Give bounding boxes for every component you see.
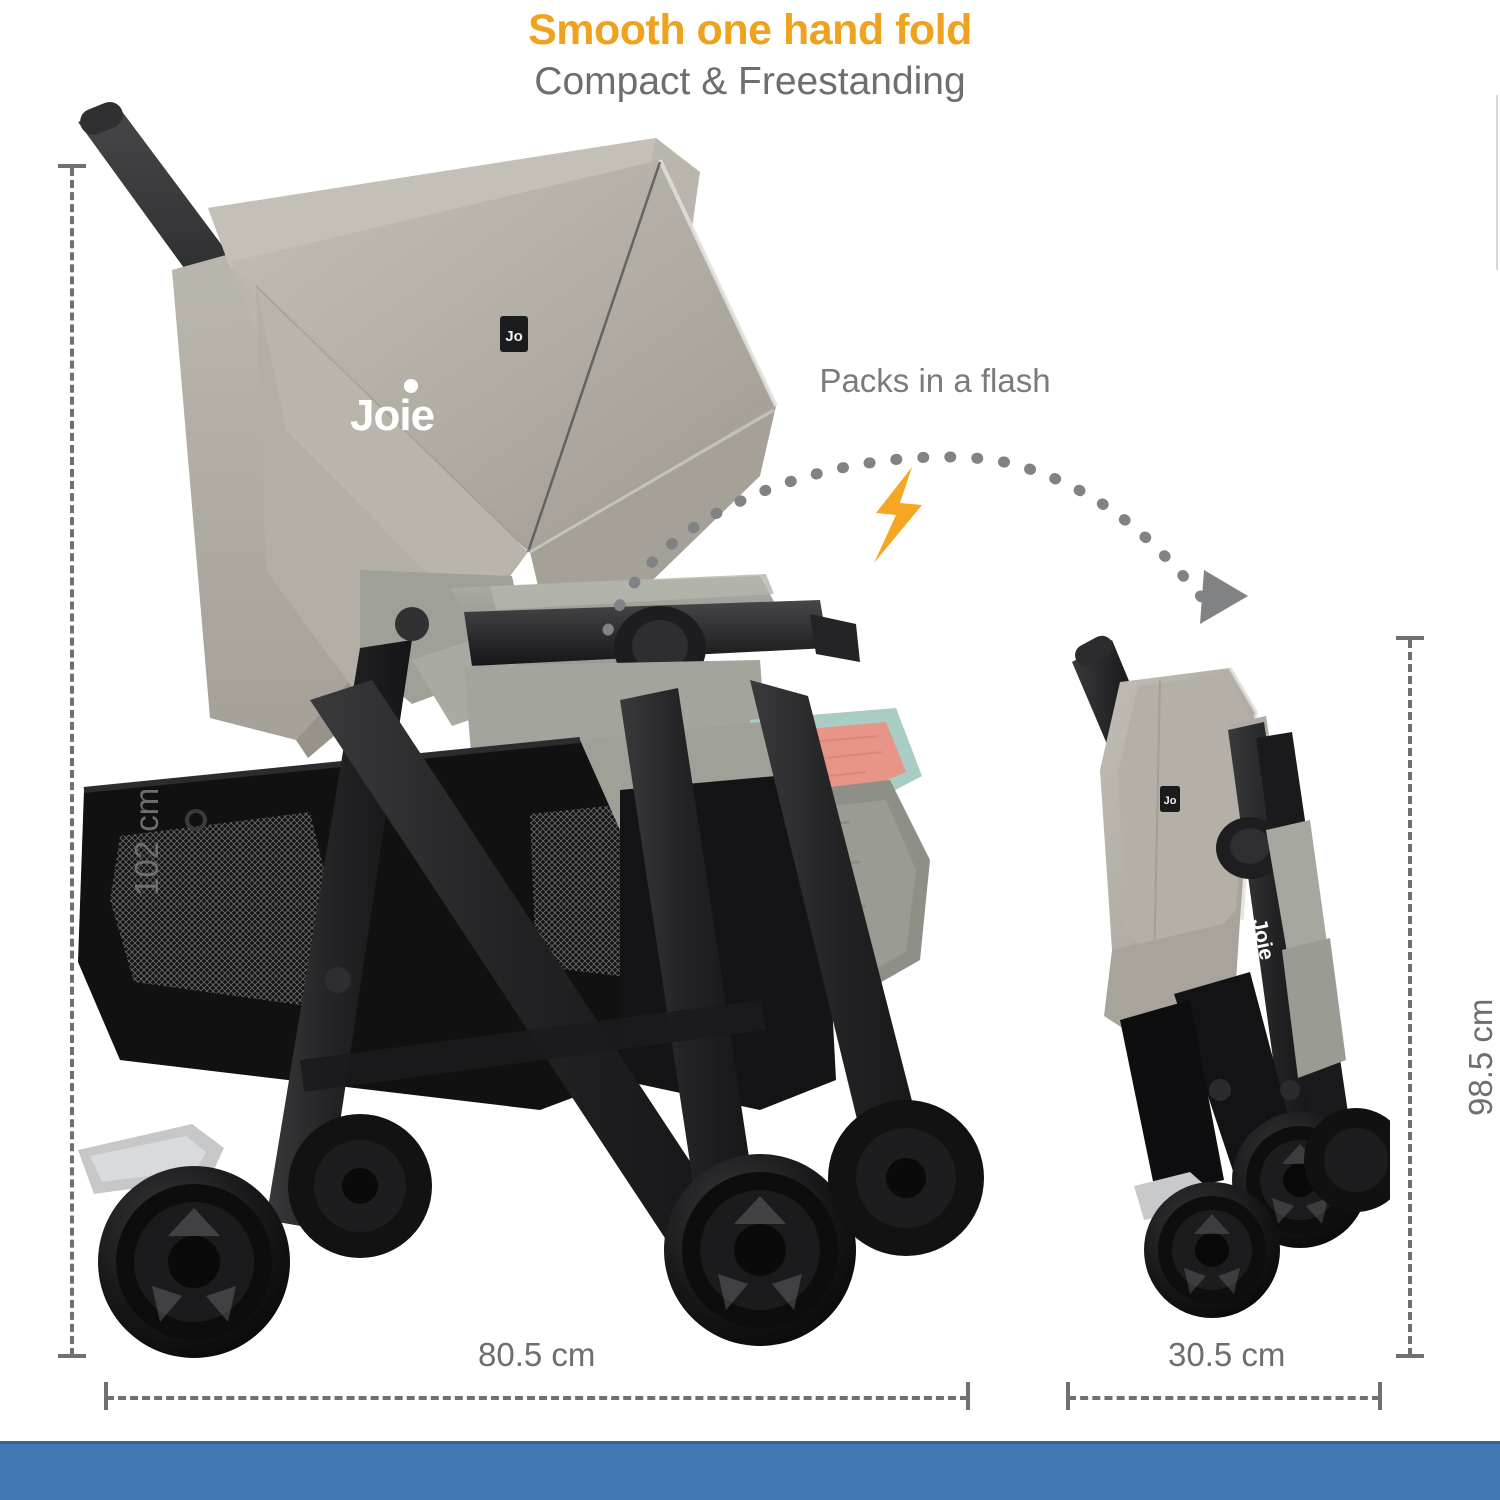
rear-wheel-far: [828, 1100, 984, 1256]
folded-width-dimension-line: [1068, 1396, 1380, 1400]
height-dimension-label: 102 cm: [128, 788, 166, 896]
folded-width-line-right-cap: [1378, 1382, 1382, 1410]
open-stroller-illustration: Jo Joie: [60, 100, 1020, 1360]
page-title: Smooth one hand fold: [0, 6, 1500, 55]
width-dimension-line: [106, 1396, 968, 1400]
svg-text:Joie: Joie: [350, 391, 434, 440]
folded-height-dimension-label: 98.5 cm: [1462, 999, 1500, 1116]
rear-wheel: [664, 1154, 856, 1346]
arrowhead-icon: [1200, 570, 1248, 624]
folded-stroller-illustration: Jo Joie: [1060, 620, 1390, 1320]
front-wheel: [98, 1166, 290, 1358]
svg-text:Jo: Jo: [1164, 795, 1177, 807]
folded-wheel-lower: [1144, 1182, 1280, 1318]
svg-text:Jo: Jo: [505, 328, 523, 345]
canopy-brand-tag: Jo: [500, 316, 528, 352]
edge-divider: [1496, 95, 1498, 270]
folded-width-dimension-label: 30.5 cm: [1168, 1336, 1285, 1374]
width-dimension-label: 80.5 cm: [478, 1336, 595, 1374]
front-wheel-far: [288, 1114, 432, 1258]
lightning-bolt-icon: [862, 465, 932, 565]
folded-height-line-bottom-cap: [1396, 1354, 1424, 1358]
height-line-bottom-cap: [58, 1354, 86, 1358]
footer-bar: [0, 1441, 1500, 1500]
packs-in-a-flash-label: Packs in a flash: [775, 362, 1095, 400]
height-dimension-line: [70, 168, 74, 1356]
infographic-canvas: Smooth one hand fold Compact & Freestand…: [0, 0, 1500, 1500]
page-subtitle: Compact & Freestanding: [0, 60, 1500, 104]
folded-height-dimension-line: [1408, 640, 1412, 1356]
width-line-right-cap: [966, 1382, 970, 1410]
